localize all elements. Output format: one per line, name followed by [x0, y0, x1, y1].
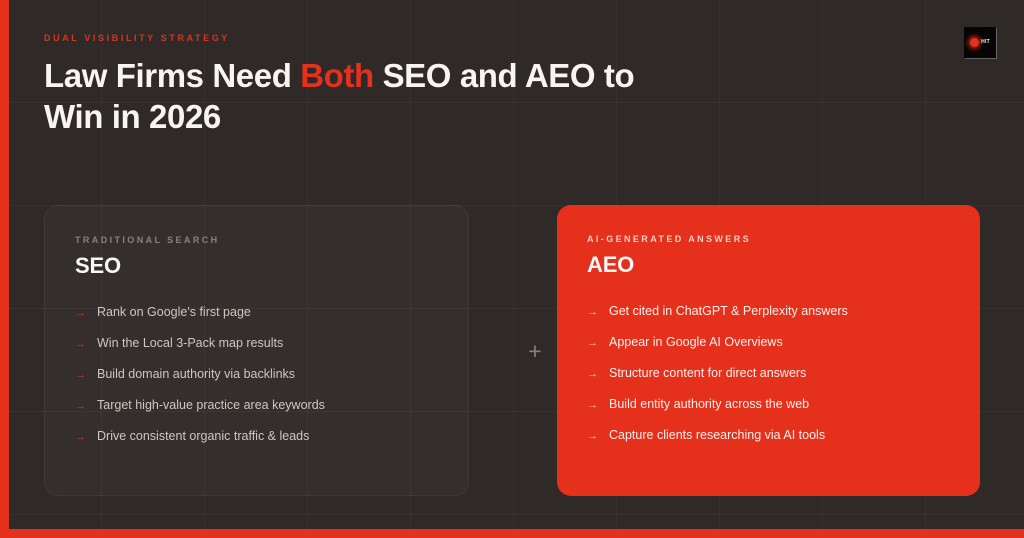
arrow-right-icon: → — [75, 306, 86, 321]
arrow-right-icon: → — [587, 305, 598, 320]
list-item-label: Build entity authority across the web — [609, 396, 809, 413]
list-item: → Build domain authority via backlinks — [75, 366, 438, 383]
list-item-label: Build domain authority via backlinks — [97, 366, 295, 383]
card-seo-bullet-list: → Rank on Google's first page → Win the … — [75, 304, 438, 444]
arrow-right-icon: → — [587, 429, 598, 444]
arrow-right-icon: → — [75, 430, 86, 445]
list-item-label: Structure content for direct answers — [609, 365, 806, 382]
arrow-right-icon: → — [75, 368, 86, 383]
list-item-label: Capture clients researching via AI tools — [609, 427, 825, 444]
list-item-label: Win the Local 3-Pack map results — [97, 335, 283, 352]
accent-edge-bottom — [0, 529, 1024, 538]
list-item-label: Target high-value practice area keywords — [97, 397, 325, 414]
list-item-label: Get cited in ChatGPT & Perplexity answer… — [609, 303, 848, 320]
accent-edge-left — [0, 0, 9, 538]
arrow-right-icon: → — [75, 399, 86, 414]
list-item: → Drive consistent organic traffic & lea… — [75, 428, 438, 445]
card-aeo-eyebrow: AI-GENERATED ANSWERS — [587, 234, 950, 244]
list-item: → Build entity authority across the web — [587, 396, 950, 413]
list-item-label: Drive consistent organic traffic & leads — [97, 428, 309, 445]
list-item: → Get cited in ChatGPT & Perplexity answ… — [587, 303, 950, 320]
arrow-right-icon: → — [587, 336, 598, 351]
header-eyebrow: DUAL VISIBILITY STRATEGY — [44, 33, 684, 43]
page-title: Law Firms Need Both SEO and AEO to Win i… — [44, 56, 684, 138]
arrow-right-icon: → — [75, 337, 86, 352]
list-item-label: Rank on Google's first page — [97, 304, 251, 321]
arrow-right-icon: → — [587, 398, 598, 413]
list-item: → Win the Local 3-Pack map results — [75, 335, 438, 352]
card-seo-title: SEO — [75, 253, 438, 279]
logo-wordmark: HIT — [981, 40, 990, 45]
header: DUAL VISIBILITY STRATEGY Law Firms Need … — [44, 33, 684, 138]
card-seo: TRADITIONAL SEARCH SEO → Rank on Google'… — [44, 205, 469, 496]
card-aeo-title: AEO — [587, 252, 950, 278]
card-aeo-bullet-list: → Get cited in ChatGPT & Perplexity answ… — [587, 303, 950, 443]
list-item: → Structure content for direct answers — [587, 365, 950, 382]
plus-separator-icon: + — [513, 338, 557, 364]
list-item: → Appear in Google AI Overviews — [587, 334, 950, 351]
logo-badge: HIT — [964, 27, 996, 58]
card-aeo: AI-GENERATED ANSWERS AEO → Get cited in … — [557, 205, 980, 496]
comparison-cards: TRADITIONAL SEARCH SEO → Rank on Google'… — [44, 205, 980, 496]
list-item: → Capture clients researching via AI too… — [587, 427, 950, 444]
red-dot-icon — [970, 38, 979, 47]
arrow-right-icon: → — [587, 367, 598, 382]
slide-root: HIT DUAL VISIBILITY STRATEGY Law Firms N… — [0, 0, 1024, 538]
card-seo-eyebrow: TRADITIONAL SEARCH — [75, 235, 438, 245]
list-item: → Rank on Google's first page — [75, 304, 438, 321]
headline-accent-word: Both — [300, 57, 374, 94]
list-item-label: Appear in Google AI Overviews — [609, 334, 783, 351]
headline-segment-1: Law Firms Need — [44, 57, 300, 94]
list-item: → Target high-value practice area keywor… — [75, 397, 438, 414]
